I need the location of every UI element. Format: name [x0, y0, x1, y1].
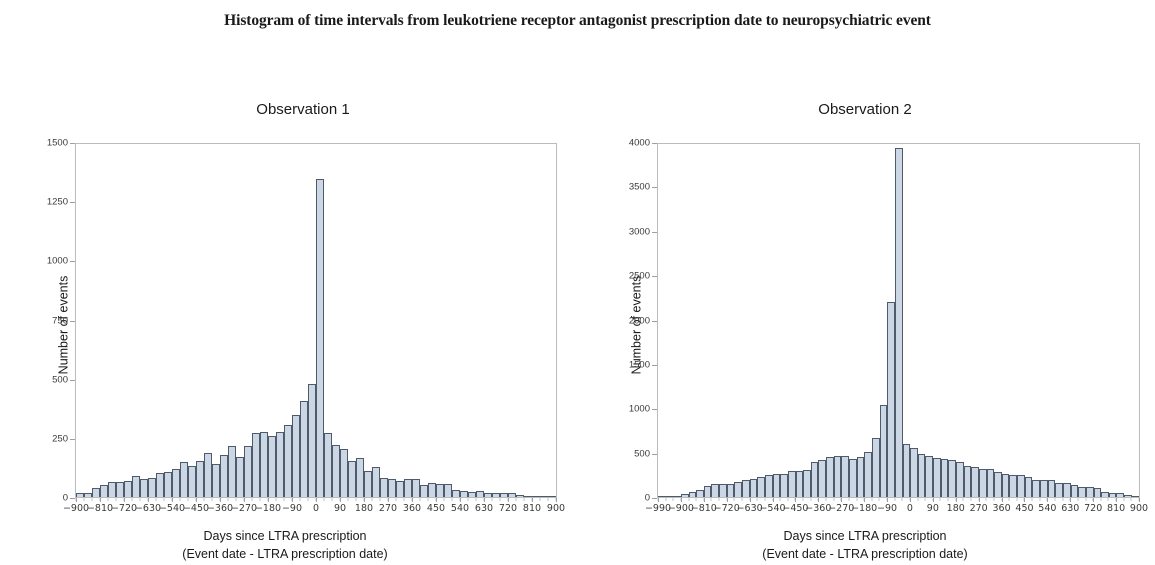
x-tick-mark — [148, 498, 149, 502]
histogram-bar — [818, 460, 826, 498]
x-minor-tick — [764, 498, 765, 501]
x-minor-tick — [444, 498, 445, 501]
histogram-bar — [1094, 488, 1102, 497]
x-minor-tick — [971, 498, 972, 501]
histogram-bar — [964, 466, 972, 497]
y-tick-mark — [70, 261, 75, 262]
histogram-bar — [524, 496, 532, 497]
y-tick-label: 1500 — [47, 138, 68, 149]
histogram-bar — [180, 462, 188, 497]
x-minor-tick — [734, 498, 735, 501]
histogram-bar — [1032, 480, 1040, 497]
x-minor-tick — [155, 498, 156, 501]
y-tick-label: 1500 — [629, 359, 650, 370]
x-tick-mark — [340, 498, 341, 502]
x-tick-mark — [556, 498, 557, 502]
x-minor-tick — [252, 498, 253, 501]
histogram-bar — [1101, 492, 1109, 497]
x-tick-label: −540 — [159, 503, 185, 514]
y-tick-mark — [652, 409, 657, 410]
x-axis-label-line1: Days since LTRA prescription — [783, 529, 946, 543]
x-minor-tick — [719, 498, 720, 501]
x-minor-tick — [84, 498, 85, 501]
x-minor-tick — [963, 498, 964, 501]
histogram-bar — [773, 474, 781, 497]
histogram-bar — [444, 484, 452, 497]
histogram-bar — [404, 479, 412, 497]
x-tick-mark — [841, 498, 842, 502]
histogram-bar — [956, 462, 964, 497]
x-tick-label: 720 — [1084, 503, 1102, 514]
x-minor-tick — [894, 498, 895, 501]
histogram-bar — [132, 476, 140, 497]
x-minor-tick — [1077, 498, 1078, 501]
histogram-bar — [1124, 495, 1132, 497]
x-tick-mark — [933, 498, 934, 502]
histogram-bar — [811, 462, 819, 497]
histogram-bar — [1025, 477, 1033, 497]
histogram-bar — [788, 471, 796, 497]
x-tick-label: −720 — [111, 503, 137, 514]
x-minor-tick — [757, 498, 758, 501]
x-minor-tick — [803, 498, 804, 501]
histogram-bar — [236, 457, 244, 497]
y-tick-mark — [70, 143, 75, 144]
x-tick-mark — [818, 498, 819, 502]
histogram-bar — [460, 491, 468, 497]
histogram-bar — [508, 493, 516, 497]
x-tick-mark — [979, 498, 980, 502]
x-minor-tick — [300, 498, 301, 501]
histogram-bar — [76, 493, 84, 497]
y-tick-mark — [70, 498, 75, 499]
histogram-bar — [933, 458, 941, 497]
histogram-bar — [108, 482, 116, 497]
histogram-bar — [300, 401, 308, 497]
x-minor-tick — [395, 498, 396, 501]
x-tick-mark — [1116, 498, 1117, 502]
x-minor-tick — [356, 498, 357, 501]
histogram-bar — [719, 484, 727, 497]
x-tick-label: 270 — [379, 503, 397, 514]
histogram-bar — [164, 472, 172, 497]
x-tick-mark — [220, 498, 221, 502]
page-title: Histogram of time intervals from leukotr… — [0, 12, 1155, 30]
x-minor-tick — [871, 498, 872, 501]
panel-title-observation-1: Observation 1 — [0, 101, 588, 118]
x-tick-mark — [795, 498, 796, 502]
histogram-bar — [1063, 483, 1071, 497]
x-minor-tick — [204, 498, 205, 501]
x-tick-mark — [750, 498, 751, 502]
histogram-bar — [895, 148, 903, 497]
x-tick-label: −180 — [851, 503, 877, 514]
x-tick-mark — [244, 498, 245, 502]
x-minor-tick — [1016, 498, 1017, 501]
y-tick-mark — [652, 321, 657, 322]
x-tick-label: 450 — [427, 503, 445, 514]
y-tick-label: 4000 — [629, 138, 650, 149]
histogram-bar — [910, 448, 918, 497]
histogram-bar — [689, 492, 697, 497]
y-tick-label: 250 — [52, 433, 68, 444]
x-minor-tick — [696, 498, 697, 501]
histogram-bar — [228, 446, 236, 497]
y-tick-mark — [652, 498, 657, 499]
x-tick-mark — [292, 498, 293, 502]
x-minor-tick — [1039, 498, 1040, 501]
histogram-bar — [994, 472, 1002, 497]
histogram-bar — [500, 493, 508, 497]
histogram-bar — [484, 493, 492, 497]
x-minor-tick — [1123, 498, 1124, 501]
x-minor-tick — [235, 498, 236, 501]
x-tick-label: −90 — [282, 503, 302, 514]
x-tick-label: 180 — [947, 503, 965, 514]
x-tick-mark — [364, 498, 365, 502]
x-minor-tick — [665, 498, 666, 501]
x-minor-tick — [1032, 498, 1033, 501]
x-minor-tick — [380, 498, 381, 501]
histogram-bar — [1009, 475, 1017, 498]
histogram-bar — [276, 432, 284, 497]
histogram-bar — [734, 482, 742, 497]
x-axis-ticks-observation-1: −900−810−720−630−540−450−360−270−180−900… — [76, 498, 556, 522]
histogram-bar — [380, 478, 388, 497]
histogram-bar — [1078, 487, 1086, 497]
x-tick-mark — [268, 498, 269, 502]
x-tick-mark — [704, 498, 705, 502]
x-minor-tick — [673, 498, 674, 501]
x-tick-label: 900 — [547, 503, 565, 514]
plot-area-observation-1: 0250500750100012501500 −900−810−720−630−… — [75, 143, 557, 498]
histogram-bar — [849, 459, 857, 497]
histogram-bar — [540, 496, 548, 497]
histogram-bar — [156, 473, 164, 497]
histogram-bar — [887, 302, 895, 497]
x-tick-mark — [460, 498, 461, 502]
x-minor-tick — [140, 498, 141, 501]
x-tick-mark — [436, 498, 437, 502]
x-minor-tick — [428, 498, 429, 501]
y-tick-label: 500 — [52, 374, 68, 385]
histogram-bar — [864, 452, 872, 497]
x-minor-tick — [940, 498, 941, 501]
x-minor-tick — [212, 498, 213, 501]
x-tick-label: 0 — [907, 503, 913, 514]
histogram-bar — [1017, 475, 1025, 497]
x-minor-tick — [516, 498, 517, 501]
histogram-bar — [834, 456, 842, 497]
histogram-bar — [1132, 496, 1140, 497]
histogram-bar — [468, 492, 476, 497]
x-minor-tick — [476, 498, 477, 501]
y-tick-label: 1000 — [47, 256, 68, 267]
y-tick-label: 2500 — [629, 271, 650, 282]
histogram-bar — [452, 490, 460, 497]
x-tick-mark — [1139, 498, 1140, 502]
x-tick-label: −630 — [135, 503, 161, 514]
histogram-bar — [1040, 480, 1048, 497]
x-minor-tick — [948, 498, 949, 501]
x-tick-mark — [681, 498, 682, 502]
x-axis-ticks-observation-2: −990−900−810−720−630−540−450−360−270−180… — [658, 498, 1139, 522]
x-minor-tick — [164, 498, 165, 501]
plot-area-observation-2: 05001000150020002500300035004000 −990−90… — [657, 143, 1140, 498]
x-tick-mark — [532, 498, 533, 502]
x-minor-tick — [284, 498, 285, 501]
x-minor-tick — [92, 498, 93, 501]
y-tick-label: 2000 — [629, 315, 650, 326]
histogram-bar — [356, 458, 364, 497]
x-minor-tick — [404, 498, 405, 501]
histogram-bar — [704, 486, 712, 497]
x-tick-mark — [508, 498, 509, 502]
x-axis-label-line2: (Event date - LTRA prescription date) — [575, 545, 1155, 563]
histogram-bar — [711, 484, 719, 497]
y-tick-mark — [70, 202, 75, 203]
histogram-bar — [268, 436, 276, 497]
y-tick-mark — [70, 321, 75, 322]
x-minor-tick — [856, 498, 857, 501]
x-tick-mark — [887, 498, 888, 502]
histogram-bar — [1048, 480, 1056, 497]
x-tick-mark — [1024, 498, 1025, 502]
x-minor-tick — [1055, 498, 1056, 501]
x-minor-tick — [260, 498, 261, 501]
histogram-bar — [308, 384, 316, 497]
x-tick-label: −900 — [63, 503, 89, 514]
histogram-bar — [948, 460, 956, 497]
histogram-bar — [925, 456, 933, 497]
x-tick-label: −450 — [183, 503, 209, 514]
x-minor-tick — [711, 498, 712, 501]
x-tick-label: 360 — [403, 503, 421, 514]
histogram-bar — [780, 474, 788, 497]
histogram-bar — [750, 479, 758, 497]
x-tick-label: 360 — [992, 503, 1010, 514]
x-tick-label: 90 — [334, 503, 346, 514]
y-tick-label: 500 — [634, 448, 650, 459]
x-tick-label: 540 — [451, 503, 469, 514]
x-minor-tick — [925, 498, 926, 501]
histogram-bar — [124, 481, 132, 497]
x-minor-tick — [825, 498, 826, 501]
histogram-bar — [1002, 474, 1010, 497]
y-tick-mark — [70, 439, 75, 440]
x-minor-tick — [902, 498, 903, 501]
histogram-bar — [971, 467, 979, 497]
histogram-bar — [332, 445, 340, 497]
x-minor-tick — [780, 498, 781, 501]
x-tick-mark — [76, 498, 77, 502]
x-tick-mark — [956, 498, 957, 502]
histogram-bar — [1071, 485, 1079, 497]
x-minor-tick — [741, 498, 742, 501]
histogram-bar — [1055, 483, 1063, 497]
x-minor-tick — [420, 498, 421, 501]
y-tick-mark — [652, 276, 657, 277]
x-axis-label-line1: Days since LTRA prescription — [203, 529, 366, 543]
x-minor-tick — [993, 498, 994, 501]
x-tick-label: 630 — [475, 503, 493, 514]
x-minor-tick — [986, 498, 987, 501]
histogram-bar — [903, 444, 911, 497]
x-minor-tick — [833, 498, 834, 501]
histogram-bar — [436, 484, 444, 497]
x-tick-label: −810 — [87, 503, 113, 514]
histogram-bar — [172, 469, 180, 497]
histogram-bar — [803, 470, 811, 497]
x-minor-tick — [848, 498, 849, 501]
y-tick-label: 1250 — [47, 197, 68, 208]
histogram-bar — [765, 475, 773, 497]
x-tick-mark — [1093, 498, 1094, 502]
histogram-bar — [292, 415, 300, 497]
histogram-bar — [140, 479, 148, 497]
histogram-bar — [364, 471, 372, 497]
histogram-bar — [92, 488, 100, 497]
x-tick-mark — [388, 498, 389, 502]
histogram-bars-observation-2 — [658, 144, 1139, 497]
x-tick-mark — [910, 498, 911, 502]
histogram-bar — [476, 491, 484, 497]
x-minor-tick — [1100, 498, 1101, 501]
x-minor-tick — [1108, 498, 1109, 501]
histogram-bar — [340, 449, 348, 497]
histogram-bar — [428, 483, 436, 497]
histogram-bar — [260, 432, 268, 497]
x-tick-label: 810 — [1107, 503, 1125, 514]
histogram-bar — [188, 466, 196, 497]
histogram-bar — [516, 495, 524, 497]
histogram-bar — [116, 482, 124, 497]
histogram-bar — [84, 493, 92, 497]
x-tick-label: −360 — [207, 503, 233, 514]
x-minor-tick — [228, 498, 229, 501]
histogram-bar — [412, 479, 420, 497]
histogram-bar — [880, 405, 888, 497]
histogram-bar — [284, 425, 292, 497]
x-minor-tick — [115, 498, 116, 501]
x-minor-tick — [324, 498, 325, 501]
histogram-bar — [220, 455, 228, 497]
x-minor-tick — [917, 498, 918, 501]
histogram-bar — [857, 457, 865, 497]
histogram-bar — [742, 480, 750, 497]
histogram-bar — [196, 461, 204, 497]
x-minor-tick — [810, 498, 811, 501]
y-tick-label: 1000 — [629, 404, 650, 415]
x-tick-mark — [412, 498, 413, 502]
y-tick-mark — [652, 454, 657, 455]
histogram-bar — [673, 496, 681, 497]
x-minor-tick — [688, 498, 689, 501]
histogram-bar — [666, 496, 674, 497]
histogram-bar — [212, 464, 220, 497]
y-tick-label: 0 — [63, 493, 68, 504]
x-minor-tick — [452, 498, 453, 501]
histogram-bar — [420, 485, 428, 497]
x-tick-label: 810 — [523, 503, 541, 514]
x-tick-mark — [484, 498, 485, 502]
x-tick-mark — [864, 498, 865, 502]
x-minor-tick — [108, 498, 109, 501]
y-tick-mark — [652, 232, 657, 233]
panel-title-observation-2: Observation 2 — [575, 101, 1155, 118]
y-tick-mark — [652, 187, 657, 188]
chart-panel-observation-2: Observation 2 Number of events 050010001… — [575, 95, 1155, 555]
y-tick-label: 0 — [645, 493, 650, 504]
chart-panel-observation-1: Observation 1 Number of events 025050075… — [0, 95, 570, 555]
histogram-bar — [548, 496, 556, 497]
histogram-bar — [696, 490, 704, 497]
x-minor-tick — [308, 498, 309, 501]
x-tick-mark — [773, 498, 774, 502]
x-tick-label: 0 — [313, 503, 319, 514]
x-tick-label: 900 — [1130, 503, 1148, 514]
x-minor-tick — [132, 498, 133, 501]
x-tick-mark — [100, 498, 101, 502]
x-tick-mark — [1070, 498, 1071, 502]
histogram-bar — [372, 467, 380, 497]
x-minor-tick — [787, 498, 788, 501]
x-minor-tick — [879, 498, 880, 501]
y-tick-label: 3500 — [629, 182, 650, 193]
x-minor-tick — [1009, 498, 1010, 501]
x-tick-mark — [172, 498, 173, 502]
y-tick-mark — [70, 380, 75, 381]
histogram-bar — [987, 469, 995, 497]
histogram-bar — [796, 471, 804, 497]
y-tick-mark — [652, 143, 657, 144]
histogram-bar — [1116, 493, 1124, 497]
histogram-bar — [941, 459, 949, 497]
y-tick-label: 750 — [52, 315, 68, 326]
x-minor-tick — [1062, 498, 1063, 501]
x-minor-tick — [1131, 498, 1132, 501]
x-minor-tick — [276, 498, 277, 501]
x-tick-label: 270 — [970, 503, 988, 514]
histogram-bar — [658, 496, 666, 497]
x-tick-mark — [727, 498, 728, 502]
histogram-bar — [872, 438, 880, 497]
x-tick-mark — [1002, 498, 1003, 502]
x-tick-label: 630 — [1061, 503, 1079, 514]
x-axis-label-observation-1: Days since LTRA prescription (Event date… — [0, 527, 570, 563]
x-tick-label: −180 — [255, 503, 281, 514]
histogram-bar — [918, 454, 926, 497]
histogram-bar — [348, 461, 356, 497]
x-tick-label: 450 — [1015, 503, 1033, 514]
x-minor-tick — [348, 498, 349, 501]
histogram-bar — [532, 496, 540, 497]
x-minor-tick — [1085, 498, 1086, 501]
x-tick-mark — [1047, 498, 1048, 502]
histogram-bar — [727, 484, 735, 497]
histogram-bars-observation-1 — [76, 144, 556, 497]
x-tick-label: 540 — [1038, 503, 1056, 514]
histogram-bar — [244, 446, 252, 497]
histogram-bar — [1086, 487, 1094, 497]
histogram-bar — [100, 485, 108, 497]
x-minor-tick — [548, 498, 549, 501]
x-minor-tick — [180, 498, 181, 501]
histogram-bar — [492, 493, 500, 497]
histogram-bar — [841, 456, 849, 497]
x-minor-tick — [372, 498, 373, 501]
histogram-bar — [324, 433, 332, 497]
